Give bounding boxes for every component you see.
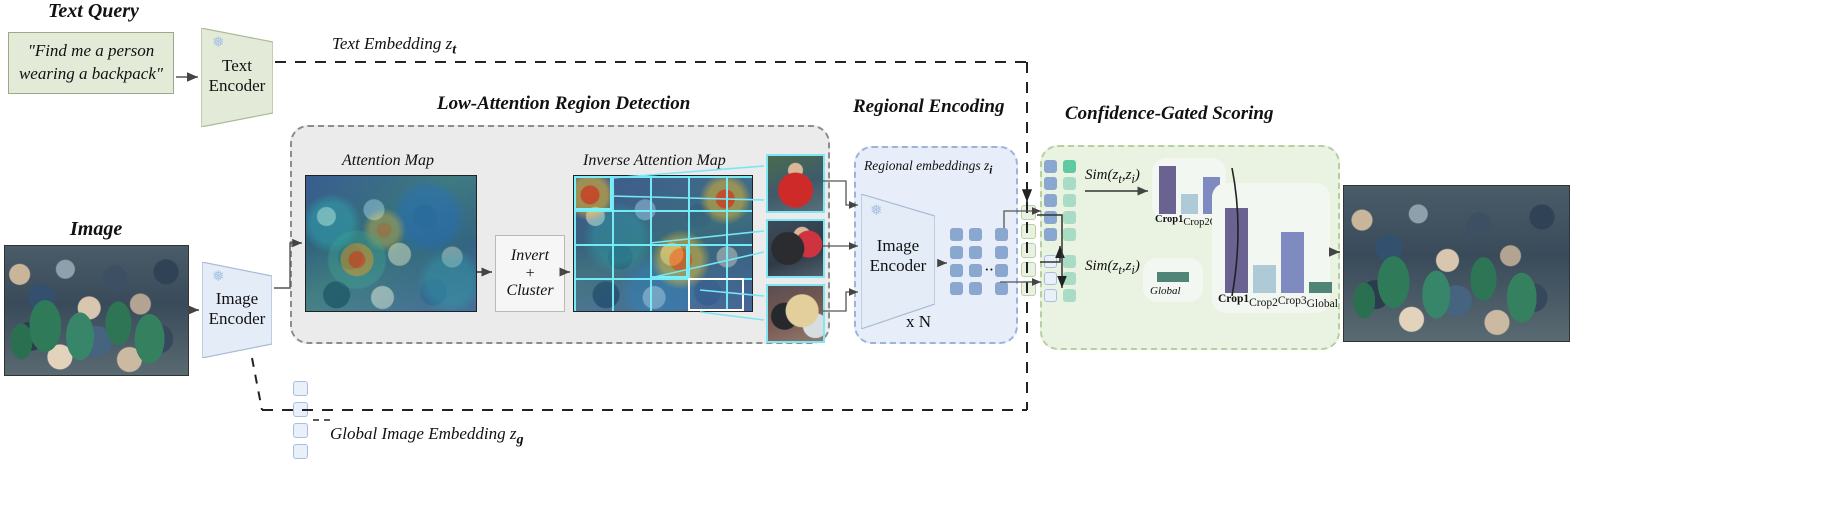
- global-score-bar: [1157, 272, 1189, 282]
- global-token-strip: [1021, 205, 1037, 301]
- low-attention-section-title: Low-Attention Region Detection: [437, 93, 690, 115]
- bar-final-crop2: [1253, 265, 1276, 293]
- sim-bottom-label: Sim(zt,zi): [1085, 258, 1140, 278]
- chart1-label-crop2: Crop2: [1183, 217, 1209, 228]
- final-score-chart-labels: Crop1Crop2Crop3Global: [1218, 293, 1338, 305]
- image-encoder[interactable]: ❅ Image Encoder: [202, 262, 272, 358]
- inverse-attention-map-photo: [573, 175, 753, 312]
- cluster-region-3: [688, 278, 744, 311]
- inverse-map-caption: Inverse Attention Map: [583, 152, 726, 170]
- bar-crop1: [1159, 166, 1176, 214]
- regional-encoder-label-1: Image: [861, 236, 935, 256]
- bar-final-global: [1309, 282, 1332, 293]
- regional-image-encoder[interactable]: ❅ Image Encoder: [861, 194, 935, 329]
- final-score-chart: [1225, 208, 1320, 293]
- snowflake-icon: ❅: [212, 270, 225, 285]
- crop-thumbnail-2: [766, 219, 825, 278]
- sim-bottom-token-pair: [1044, 255, 1078, 301]
- cluster-label: Cluster: [506, 282, 553, 300]
- regional-embeddings-text: Regional embeddings z: [864, 158, 989, 173]
- invert-cluster-box[interactable]: Invert + Cluster: [495, 235, 565, 312]
- input-photo: [4, 245, 189, 376]
- chart2-label-crop3: Crop3: [1278, 295, 1307, 307]
- text-embedding-text: Text Embedding z: [332, 34, 452, 53]
- invert-label: Invert: [511, 247, 549, 265]
- repeat-n-label: x N: [906, 312, 931, 332]
- snowflake-icon: ❅: [212, 36, 225, 51]
- text-encoder-label-1: Text: [201, 56, 273, 76]
- attention-map-photo: [305, 175, 477, 312]
- bar-final-crop1: [1225, 208, 1248, 293]
- confidence-gated-section-title: Confidence-Gated Scoring: [1065, 103, 1273, 125]
- crop-thumbnail-3: [766, 284, 825, 343]
- crop-thumbnail-1: [766, 154, 825, 213]
- regional-encoding-section-title: Regional Encoding: [853, 96, 1005, 118]
- text-encoder[interactable]: ❅ Text Encoder: [201, 28, 273, 127]
- text-query-value: "Find me a person wearing a backpack": [17, 40, 165, 86]
- text-embedding-label: Text Embedding zt: [332, 34, 456, 58]
- regional-embeddings-caption: Regional embeddings zi: [864, 158, 992, 177]
- global-embedding-subscript: g: [517, 431, 524, 447]
- cluster-region-2: [650, 244, 688, 278]
- global-embedding-text: Global Image Embedding z: [330, 424, 517, 443]
- text-query-box[interactable]: "Find me a person wearing a backpack": [8, 32, 174, 94]
- attention-map-caption: Attention Map: [342, 152, 434, 170]
- bar-final-crop3: [1281, 232, 1304, 293]
- snowflake-icon: ❅: [870, 204, 883, 219]
- sim-top-label: Sim(zt,zi): [1085, 167, 1140, 187]
- global-image-embedding-tokens: [293, 381, 311, 459]
- plus-label: +: [525, 265, 536, 283]
- chart2-label-crop1: Crop1: [1218, 293, 1249, 305]
- text-query-label: Text Query: [48, 0, 139, 23]
- chart2-label-crop2: Crop2: [1249, 297, 1278, 309]
- sim-top-token-pair: [1044, 160, 1078, 240]
- cluster-region-1: [574, 176, 612, 210]
- global-score-label: Global: [1150, 285, 1181, 297]
- image-encoder-label-2: Encoder: [202, 309, 272, 329]
- global-image-embedding-label: Global Image Embedding zg: [330, 424, 524, 448]
- regional-embeddings-subscript: i: [989, 165, 992, 177]
- image-label: Image: [70, 218, 122, 241]
- regional-embedding-grid: ··: [950, 228, 1008, 300]
- regional-encoder-label-2: Encoder: [861, 256, 935, 276]
- bar-crop2: [1181, 194, 1198, 214]
- chart2-label-global: Global: [1307, 298, 1338, 310]
- text-embedding-subscript: t: [452, 41, 456, 57]
- image-encoder-label-1: Image: [202, 289, 272, 309]
- ellipsis-dots: ··: [984, 261, 993, 278]
- output-photo: [1343, 185, 1570, 342]
- chart1-label-crop1: Crop1: [1155, 214, 1183, 225]
- text-encoder-label-2: Encoder: [201, 76, 273, 96]
